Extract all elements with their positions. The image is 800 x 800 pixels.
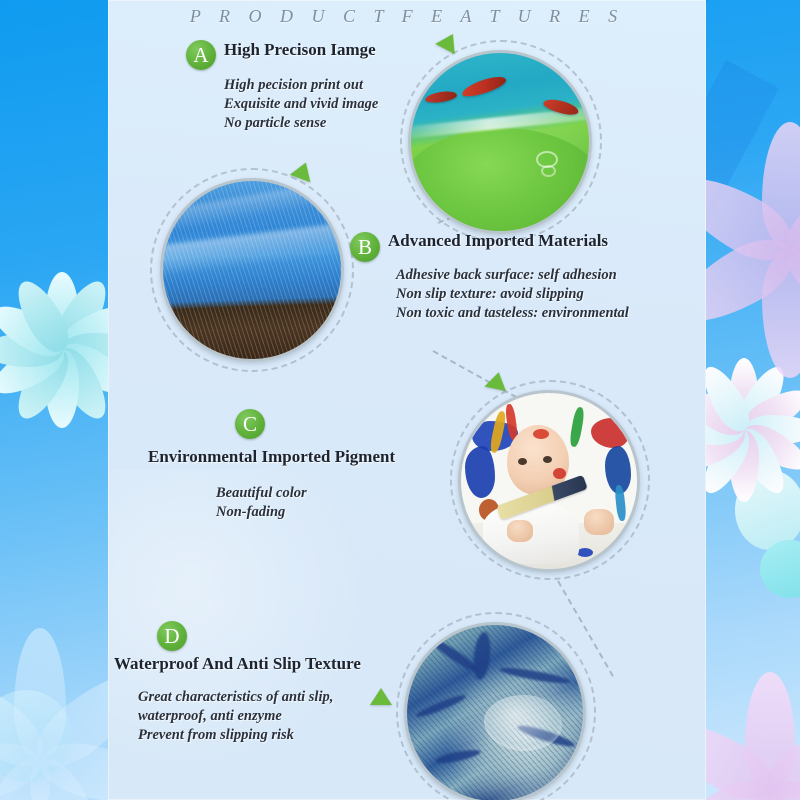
koi-fish-icon — [460, 73, 508, 100]
page-title: P R O D U C T F E A T U R E S — [108, 6, 706, 27]
feature-badge-c: C — [235, 409, 265, 439]
feature-title-a: High Precison Iamge — [224, 40, 376, 60]
feature-title-c: Environmental Imported Pigment — [148, 447, 395, 467]
feature-body-b: Adhesive back surface: self adhesion Non… — [396, 266, 629, 323]
flow-arrow-d — [370, 688, 392, 705]
flow-arrow-c — [484, 370, 509, 391]
koi-fish-icon — [425, 90, 458, 104]
water-texture-anti-slip-photo — [404, 622, 586, 800]
baby-painting-photo — [458, 390, 640, 572]
feature-badge-b: B — [350, 232, 380, 262]
content-panel: P R O D U C T F E A T U R E S A High Pre… — [108, 0, 706, 800]
product-features-poster: P R O D U C T F E A T U R E S A High Pre… — [0, 0, 800, 800]
feature-body-d: Great characteristics of anti slip, wate… — [138, 688, 333, 745]
feature-title-b: Advanced Imported Materials — [388, 231, 608, 251]
feature-body-c: Beautiful color Non-fading — [216, 484, 307, 522]
blue-ribbed-fabric-photo — [160, 178, 344, 362]
feature-badge-d: D — [157, 621, 187, 651]
feature-body-a: High pecision print out Exquisite and vi… — [224, 76, 378, 133]
koi-pond-lily-leaf-photo — [408, 50, 592, 234]
feature-title-d: Waterproof And Anti Slip Texture — [114, 654, 361, 674]
water-drop-icon — [484, 695, 562, 751]
feature-badge-a: A — [186, 40, 216, 70]
